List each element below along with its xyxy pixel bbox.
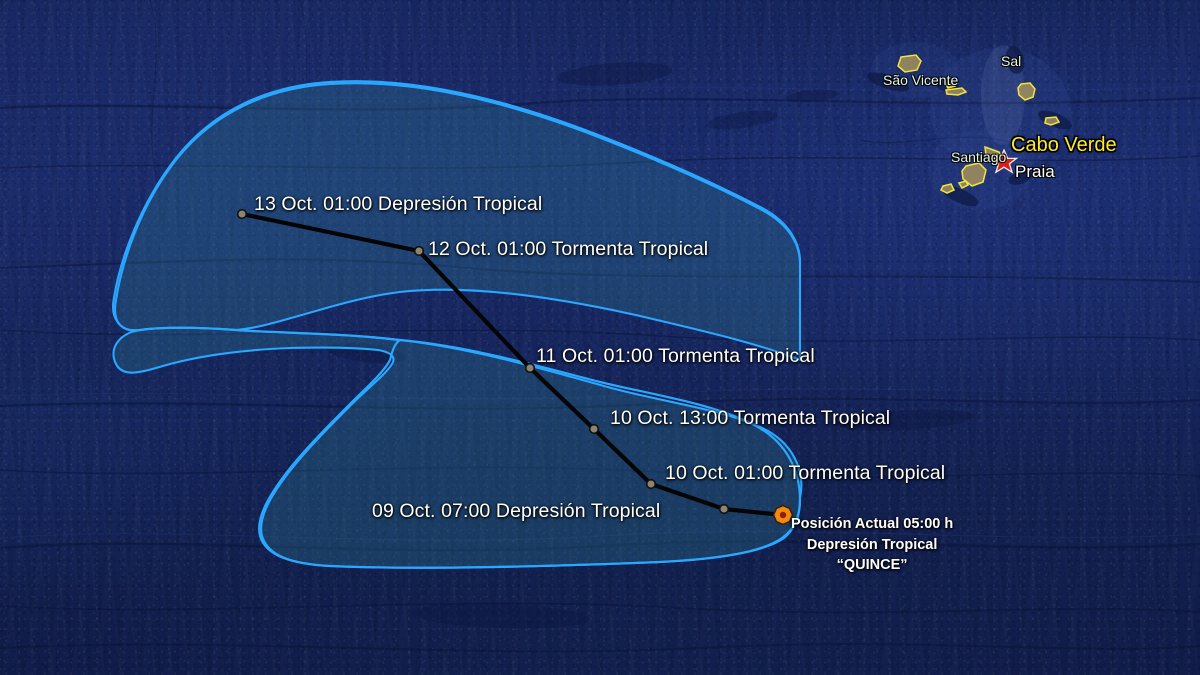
island-sao-vicente bbox=[898, 55, 921, 72]
cabo-verde-islands bbox=[0, 0, 1200, 675]
hurricane-forecast-map[interactable]: 13 Oct. 01:00 Depresión Tropical 12 Oct.… bbox=[0, 0, 1200, 675]
island-fogo bbox=[941, 184, 954, 193]
